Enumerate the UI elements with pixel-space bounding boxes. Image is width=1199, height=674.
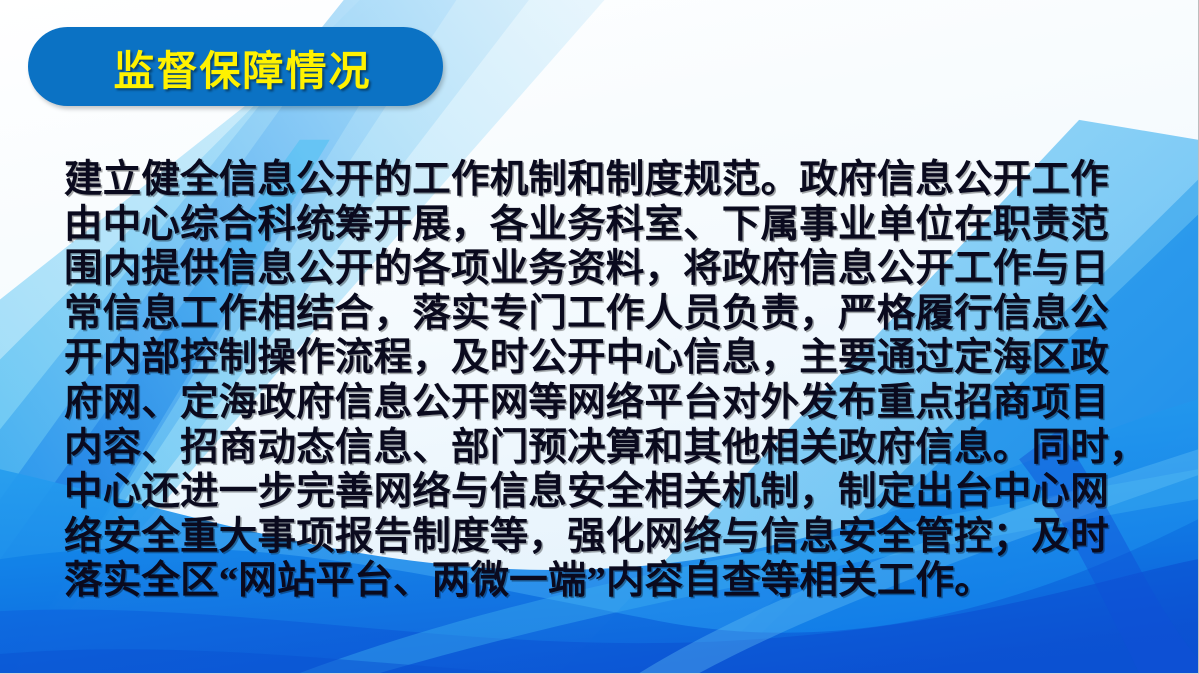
slide-canvas: 监督保障情况 建立健全信息公开的工作机制和制度规范。政府信息公开工作 由中心综合… bbox=[0, 0, 1199, 674]
body-line: 府网、定海政府信息公开网等网络平台对外发布重点招商项目 bbox=[64, 381, 1128, 426]
body-line: 落实全区“网站平台、两微一端”内容自查等相关工作。 bbox=[64, 559, 1128, 604]
body-line: 络安全重大事项报告制度等，强化网络与信息安全管控；及时 bbox=[64, 515, 1128, 560]
body-line: 由中心综合科统筹开展，各业务科室、下属事业单位在职责范 bbox=[64, 203, 1128, 248]
title-badge: 监督保障情况 bbox=[28, 27, 443, 106]
body-line: 围内提供信息公开的各项业务资料，将政府信息公开工作与日 bbox=[64, 247, 1128, 292]
body-line: 中心还进一步完善网络与信息安全相关机制，制定出台中心网 bbox=[64, 470, 1128, 515]
body-line: 内容、招商动态信息、部门预决算和其他相关政府信息。同时， bbox=[64, 426, 1128, 471]
body-line: 常信息工作相结合，落实专门工作人员负责，严格履行信息公 bbox=[64, 292, 1128, 337]
body-text-block: 建立健全信息公开的工作机制和制度规范。政府信息公开工作 由中心综合科统筹开展，各… bbox=[64, 158, 1128, 604]
body-line: 建立健全信息公开的工作机制和制度规范。政府信息公开工作 bbox=[64, 158, 1128, 203]
body-line: 开内部控制操作流程，及时公开中心信息，主要通过定海区政 bbox=[64, 336, 1128, 381]
title-text: 监督保障情况 bbox=[100, 37, 372, 97]
